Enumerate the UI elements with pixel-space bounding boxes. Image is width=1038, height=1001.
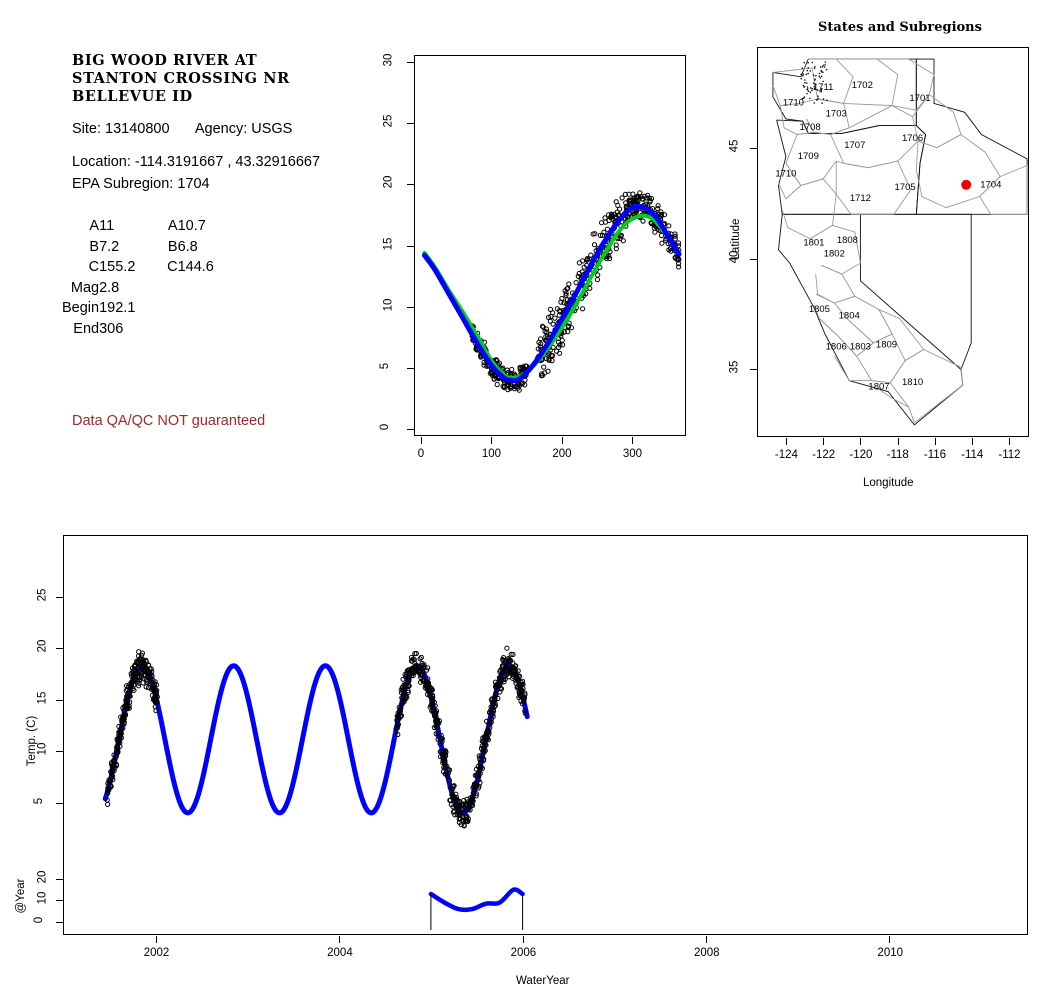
- timeseries-y-tick-label: 20: [36, 640, 48, 653]
- site-id-line: Site: 13140800 Agency: USGS: [72, 119, 372, 139]
- param-key2: B: [167, 237, 177, 258]
- seasonal-plot-panel: [414, 55, 686, 436]
- map-subregion-label-1807: 1807: [868, 381, 889, 392]
- latitude-axis-title: Latitude: [730, 209, 742, 269]
- site-id-label: Site:: [72, 121, 101, 137]
- param-value2: [178, 298, 246, 319]
- site-id-value: 13140800: [105, 121, 170, 137]
- timeseries-x-tick-label: 2002: [144, 947, 170, 959]
- seasonal-y-tick-label: 0: [379, 424, 391, 430]
- blue-fit-curve: [425, 206, 680, 380]
- map-lon-tick-label: -112: [998, 449, 1020, 461]
- map-subregion-label-1705: 1705: [895, 182, 916, 193]
- map-lon-tick-label: -114: [961, 449, 983, 461]
- map-subregion-label-1710b: 1710: [775, 169, 796, 180]
- parameter-table-grid: A 11 A 10.7 B 7.2 B 6.8 C 155.2 C 144.6 …: [62, 216, 246, 339]
- axis-tick: [407, 307, 414, 308]
- axis-tick: [786, 438, 787, 445]
- map-subregion-label-1805: 1805: [809, 304, 830, 315]
- map-lon-tick-label: -116: [924, 449, 946, 461]
- map-subregion-label-1710: 1710: [783, 98, 804, 109]
- annual-mean-inset-blue: [431, 889, 523, 909]
- map-subregion-label-1704: 1704: [980, 180, 1001, 191]
- map-subregion-label-1709: 1709: [798, 151, 819, 162]
- map-lat-tick-label: 35: [728, 361, 740, 374]
- param-value: 155.2: [99, 257, 167, 278]
- axis-tick: [421, 437, 422, 444]
- map-subregion-label-1702: 1702: [852, 80, 873, 91]
- station-name: BIG WOOD RIVER AT STANTON CROSSING NR BE…: [72, 52, 372, 106]
- timeseries-secondary-y-tick-label: 20: [36, 871, 48, 884]
- timeseries-x-tick-label: 2008: [694, 947, 720, 959]
- seasonal-x-tick-label: 300: [623, 448, 642, 460]
- seasonal-plot-canvas: [415, 56, 685, 435]
- axis-tick: [889, 936, 890, 943]
- map-subregion-label-1809: 1809: [876, 339, 897, 350]
- axis-tick: [56, 879, 63, 880]
- axis-tick: [156, 936, 157, 943]
- param-value: 11: [99, 216, 167, 237]
- param-value: 192.1: [99, 298, 167, 319]
- timeseries-x-tick-label: 2004: [327, 947, 353, 959]
- axis-tick: [56, 803, 63, 804]
- axis-tick: [935, 438, 936, 445]
- seasonal-y-tick-label: 15: [382, 237, 394, 250]
- table-row: End 306: [62, 319, 246, 340]
- axis-tick: [56, 922, 63, 923]
- year-axis-title: @Year: [15, 866, 27, 926]
- axis-tick: [56, 751, 63, 752]
- param-key2: C: [167, 257, 177, 278]
- seasonal-y-tick-label: 30: [382, 54, 394, 67]
- seasonal-y-tick-label: 20: [382, 176, 394, 189]
- map-lon-tick-label: -120: [849, 449, 872, 461]
- map-subregion-label-1802: 1802: [824, 248, 845, 259]
- param-value: 2.8: [99, 278, 167, 299]
- parameter-table-body: A 11 A 10.7 B 7.2 B 6.8 C 155.2 C 144.6 …: [62, 216, 246, 339]
- map-title: States and Subregions: [818, 20, 982, 35]
- seasonal-x-tick-label: 200: [552, 448, 571, 460]
- map-subregion-label-1707: 1707: [844, 140, 865, 151]
- axis-tick: [407, 246, 414, 247]
- param-value: 306: [99, 319, 167, 340]
- axis-tick: [56, 648, 63, 649]
- seasonal-y-tick-label: 10: [382, 298, 394, 311]
- axis-tick: [339, 936, 340, 943]
- param-key2: A: [167, 216, 177, 237]
- table-row: Begin 192.1: [62, 298, 246, 319]
- site-info-block: BIG WOOD RIVER AT STANTON CROSSING NR BE…: [72, 52, 372, 194]
- temp-axis-title: Temp. (C): [26, 711, 38, 771]
- param-value2: [178, 278, 246, 299]
- map-subregion-label-1810: 1810: [902, 377, 923, 388]
- param-key2: [167, 278, 177, 299]
- param-value2: 6.8: [178, 237, 246, 258]
- map-lon-tick-label: -118: [887, 449, 909, 461]
- state-idaho: [916, 59, 1027, 214]
- agency-value: USGS: [251, 121, 292, 137]
- param-key: End: [62, 319, 99, 340]
- map-canvas: 1711170217011710170317081706170717091710…: [758, 48, 1028, 436]
- axis-tick: [860, 438, 861, 445]
- axis-tick: [823, 438, 824, 445]
- param-value2: 10.7: [178, 216, 246, 237]
- axis-tick: [898, 438, 899, 445]
- map-subregion-label-1712: 1712: [850, 193, 871, 204]
- axis-tick: [407, 62, 414, 63]
- seasonal-x-tick-label: 100: [482, 448, 501, 460]
- timeseries-secondary-y-tick-label: 10: [36, 892, 48, 905]
- axis-tick: [56, 900, 63, 901]
- table-row: Mag 2.8: [62, 278, 246, 299]
- wateryear-axis-title: WaterYear: [516, 975, 569, 987]
- site-marker-dot: [961, 180, 971, 190]
- axis-tick: [407, 368, 414, 369]
- seasonal-fit-blue: [105, 666, 527, 813]
- axis-tick: [523, 936, 524, 943]
- axis-tick: [1009, 438, 1010, 445]
- map-panel: 1711170217011710170317081706170717091710…: [757, 47, 1029, 437]
- param-key: Begin: [62, 298, 99, 319]
- axis-tick: [491, 437, 492, 444]
- agency-label: Agency:: [195, 121, 247, 137]
- axis-tick: [750, 369, 757, 370]
- param-value2: 144.6: [178, 257, 246, 278]
- timeseries-x-tick-label: 2006: [511, 947, 537, 959]
- longitude-axis-title: Longitude: [863, 477, 914, 489]
- timeseries-panel: [63, 535, 1028, 935]
- map-subregion-label-1803: 1803: [850, 342, 871, 353]
- param-key: Mag: [62, 278, 99, 299]
- map-subregion-label-1703: 1703: [826, 109, 847, 120]
- axis-tick: [407, 123, 414, 124]
- map-subregion-label-1701: 1701: [909, 93, 930, 104]
- timeseries-y-tick-label: 25: [36, 588, 48, 601]
- axis-tick: [562, 437, 563, 444]
- map-subregion-label-1706: 1706: [902, 133, 923, 144]
- table-row: B 7.2 B 6.8: [62, 237, 246, 258]
- location-line: Location: -114.3191667 , 43.32916667: [72, 152, 372, 172]
- map-subregion-label-1808: 1808: [837, 235, 858, 246]
- param-key2: [167, 298, 177, 319]
- table-row: C 155.2 C 144.6: [62, 257, 246, 278]
- seasonal-y-tick-label: 25: [382, 115, 394, 128]
- map-subregion-boundary-13: [782, 179, 836, 239]
- timeseries-y-tick-label: 5: [33, 797, 45, 803]
- map-subregion-label-1708: 1708: [800, 122, 821, 133]
- param-key: C: [62, 257, 99, 278]
- param-value2: [178, 319, 246, 340]
- timeseries-y-tick-label: 10: [36, 743, 48, 756]
- map-lat-tick-label: 45: [728, 139, 740, 152]
- map-lon-tick-label: -122: [812, 449, 835, 461]
- subregion-line: EPA Subregion: 1704: [72, 174, 372, 194]
- table-row: A 11 A 10.7: [62, 216, 246, 237]
- axis-tick: [407, 184, 414, 185]
- param-key: A: [62, 216, 99, 237]
- map-subregion-label-1801: 1801: [803, 237, 824, 248]
- parameter-table: A 11 A 10.7 B 7.2 B 6.8 C 155.2 C 144.6 …: [62, 216, 246, 339]
- axis-tick: [407, 429, 414, 430]
- map-subregion-label-1804: 1804: [839, 311, 860, 322]
- timeseries-canvas: [64, 536, 1027, 934]
- timeseries-x-tick-label: 2010: [877, 947, 903, 959]
- param-key2: [167, 319, 177, 340]
- axis-tick: [750, 148, 757, 149]
- qaqc-warning: Data QA/QC NOT guaranteed: [72, 413, 265, 429]
- param-key: B: [62, 237, 99, 258]
- seasonal-x-tick-label: 0: [418, 448, 424, 460]
- axis-tick: [56, 700, 63, 701]
- axis-tick: [972, 438, 973, 445]
- param-value: 7.2: [99, 237, 167, 258]
- seasonal-y-tick-label: 5: [379, 363, 391, 369]
- timeseries-y-tick-label: 15: [36, 691, 48, 704]
- axis-tick: [706, 936, 707, 943]
- map-subregion-label-1711: 1711: [813, 82, 833, 93]
- axis-tick: [56, 597, 63, 598]
- axis-tick: [632, 437, 633, 444]
- axis-tick: [750, 259, 757, 260]
- map-lon-tick-label: -124: [775, 449, 798, 461]
- map-subregion-boundary-10: [916, 135, 1000, 208]
- map-subregion-label-1806: 1806: [826, 342, 847, 353]
- timeseries-secondary-y-tick-label: 0: [33, 917, 45, 923]
